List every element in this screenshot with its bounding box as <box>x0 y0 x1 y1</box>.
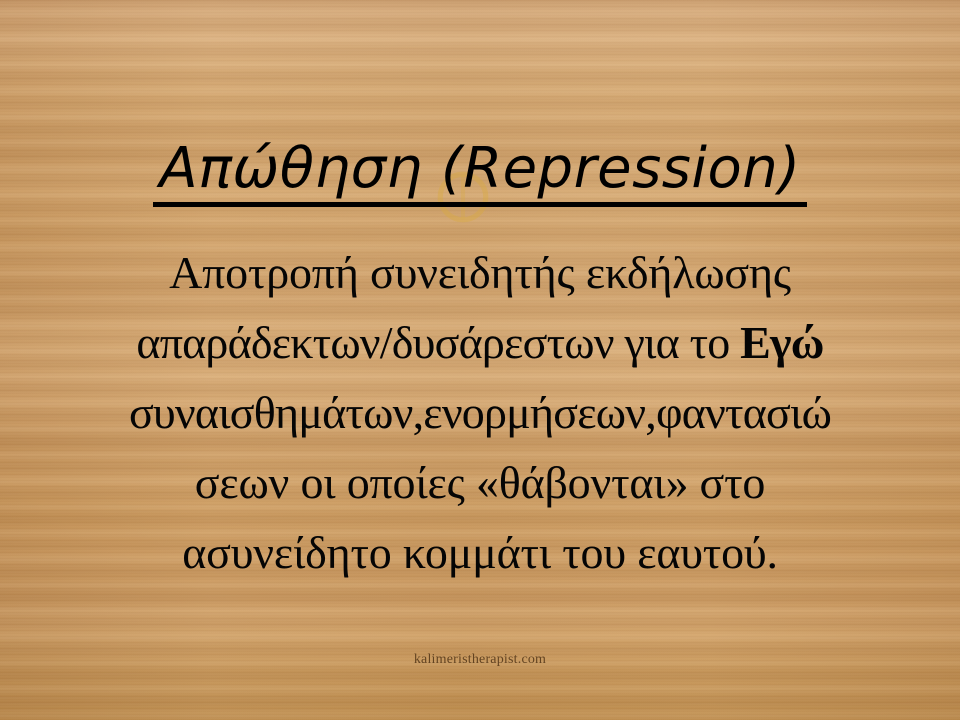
body-line-2: απαράδεκτων/δυσάρεστων για το Εγώ <box>0 308 960 378</box>
watermark-footer: kalimeristherapist.com <box>0 652 960 668</box>
body-line-3: συναισθημάτων,ενορμήσεων,φαντασιώ <box>0 378 960 448</box>
slide-body: Αποτροπή συνειδητής εκδήλωσης απαράδεκτω… <box>0 238 960 588</box>
body-line-4: σεων οι οποίες «θάβονται» στο <box>0 448 960 518</box>
slide-canvas: Απώθηση (Repression) Αποτροπή συνειδητής… <box>0 0 960 720</box>
body-line-2-text: απαράδεκτων/δυσάρεστων για το <box>136 317 740 368</box>
slide-content: Απώθηση (Repression) Αποτροπή συνειδητής… <box>0 0 960 720</box>
page-title: Απώθηση (Repression) <box>153 140 806 207</box>
body-line-2-emphasis: Εγώ <box>740 317 823 368</box>
body-line-1: Αποτροπή συνειδητής εκδήλωσης <box>0 238 960 308</box>
body-line-5: ασυνείδητο κομμάτι του εαυτού. <box>0 518 960 588</box>
slide-title-row: Απώθηση (Repression) <box>0 140 960 207</box>
